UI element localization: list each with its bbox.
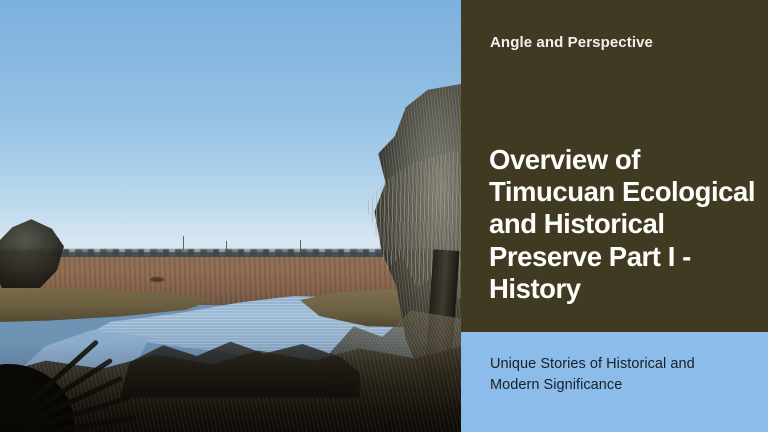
subtitle-bar: Unique Stories of Historical and Modern …: [461, 332, 768, 432]
title-slide: Angle and Perspective Overview of Timucu…: [0, 0, 768, 432]
palmetto-frond: [0, 304, 200, 432]
subtitle-text: Unique Stories of Historical and Modern …: [490, 354, 746, 395]
horizon-tower-icon: [226, 241, 227, 250]
horizon-tower-icon: [183, 236, 184, 250]
page-title: Overview of Timucuan Ecological and Hist…: [489, 144, 755, 305]
marsh-clump: [150, 277, 164, 282]
kicker-label: Angle and Perspective: [490, 34, 730, 53]
title-panel: Angle and Perspective Overview of Timucu…: [461, 0, 768, 332]
marsh-landscape-photo: [0, 0, 461, 432]
horizon-tower-icon: [300, 240, 301, 250]
